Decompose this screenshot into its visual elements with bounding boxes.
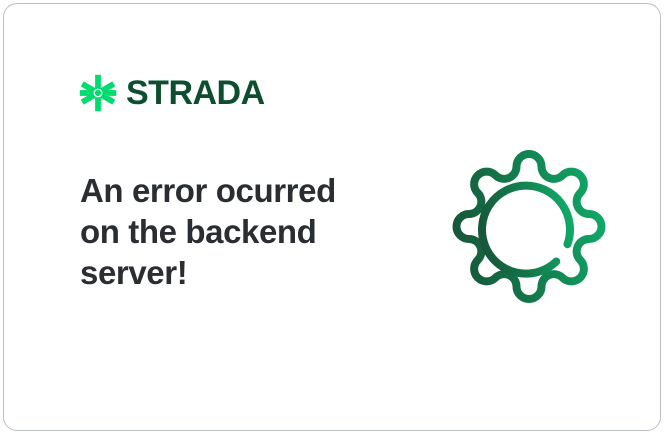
gear-cog-icon (449, 144, 609, 304)
error-message: An error ocurred on the backend server! (80, 170, 370, 293)
brand-wordmark: STRADA (126, 76, 265, 110)
error-card: STRADA An error ocurred on the backend s… (3, 3, 661, 431)
brand-logo: STRADA (79, 74, 265, 112)
strada-asterisk-icon (79, 74, 117, 112)
